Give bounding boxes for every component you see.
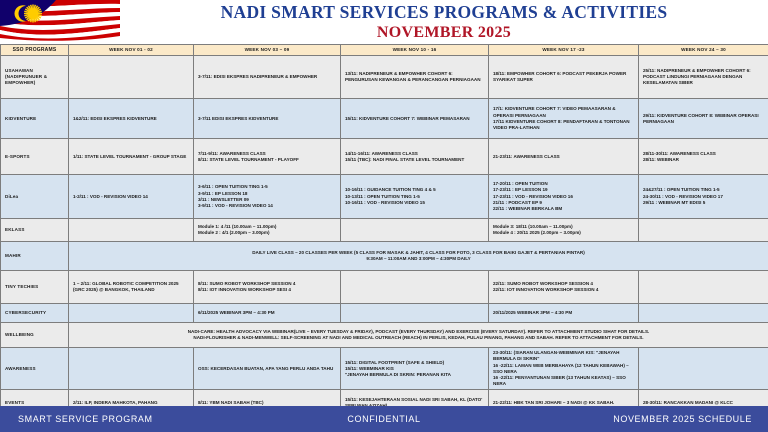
cell-r4-c2 (341, 219, 489, 242)
cell-line: NADI-FLOURISHER & NADI-MENWELL: SELF-SCR… (73, 335, 764, 341)
cell-r0-c1: 3-7/11: EDISI EKSPRES NADIPRENEUR & EMPO… (194, 56, 341, 99)
cell-r9-c0 (69, 348, 194, 390)
merged-cell: DAILY LIVE CLASS – 20 CLASSES PER WEEK (… (69, 242, 768, 271)
cell-line: 1 – 2/11: GLOBAL ROBOTIC COMPETITION 202… (73, 281, 189, 293)
cell-line: 25/11: NADIPRENEUR & EMPOWHER COHORT 6: … (643, 68, 764, 87)
footer-bar: SMART SERVICE PROGRAM CONFIDENTIAL NOVEM… (0, 406, 768, 432)
cell-line: 29/11 : WEBINAR MT EDISI 5 (643, 200, 764, 206)
table-row: E-SPORTS1/11: STATE LEVEL TOURNAMENT - G… (1, 139, 768, 175)
cell-r7-c3: 20/11/2025 WEBINAR 3PM – 4:30 PM (489, 304, 639, 323)
row-label-mahir: MAHIR (1, 242, 69, 271)
malaysia-flag-icon (0, 0, 120, 42)
table-row: CYBERSECURITY6/11/2025 WEBINAR 3PM – 4:3… (1, 304, 768, 323)
cell-line: 28/11: WEBINAR (643, 157, 764, 163)
cell-r7-c4 (639, 304, 768, 323)
row-label-kidventure: KIDVENTURE (1, 99, 69, 139)
table-row: USAHAWAN (NADIPRUNUER & EMPOWHER)3-7/11:… (1, 56, 768, 99)
cell-line: 13/11: NADIPRENEUR & EMPOWHER COHORT 6: … (345, 71, 484, 83)
cell-r1-c4: 29/11: KIDVENTURE COHORT 8: WEBINAR OPER… (639, 99, 768, 139)
slide-root: NADI SMART SERVICES PROGRAMS & ACTIVITIE… (0, 0, 768, 432)
cell-line: 20/11/2025 WEBINAR 3PM – 4:30 PM (493, 310, 634, 316)
cell-r6-c1: 8/11: SUMO ROBOT WORKSHOP SESSION 48/11:… (194, 271, 341, 304)
cell-line: 8/11: IOT INNOVATION WORKSHOP SESI 4 (198, 287, 336, 293)
cell-r7-c2 (341, 304, 489, 323)
table-row: EKLASSModule 1: 4 /11 (10.00am – 11.00pm… (1, 219, 768, 242)
cell-line: 29/11: KIDVENTURE COHORT 8: WEBINAR OPER… (643, 113, 764, 125)
cell-r1-c0: 1&2/11: EDISI EKSPRES KIDVENTURE (69, 99, 194, 139)
table-row: DiLea1-2/11 : VOD - REVISION VIDEO 143-6… (1, 175, 768, 219)
cell-line: 17/11 KIDVENTURE COHORT 8: PENDAFTARAN &… (493, 119, 634, 131)
table-row: KIDVENTURE1&2/11: EDISI EKSPRES KIDVENTU… (1, 99, 768, 139)
cell-line: 18/11: EMPOWHER COHORT 6: PODCAST PEKERJ… (493, 71, 634, 83)
cell-r2-c3: 21-23/11: AWARENESS CLASS (489, 139, 639, 175)
cell-r1-c1: 3-7/11 EDISI EKSPRES KIDVENTURE (194, 99, 341, 139)
row-label-dilea: DiLea (1, 175, 69, 219)
row-label-tiny-techies: TINY TECHIES (1, 271, 69, 304)
cell-r9-c1: OSS: KECERDASAN BUATAN, APA YANG PERLU A… (194, 348, 341, 390)
cell-r6-c2 (341, 271, 489, 304)
table-row: TINY TECHIES1 – 2/11: GLOBAL ROBOTIC COM… (1, 271, 768, 304)
cell-line: 23-30/11: (SIARAN ULANGAN-WEBMINAR KIS: … (493, 350, 634, 362)
cell-r9-c2: 15/11: DIGITAL FOOTPRINT (SAFE & SHIELD)… (341, 348, 489, 390)
cell-r3-c3: 17-20/11 : OPEN TUITION17-23/11 : EP LES… (489, 175, 639, 219)
table-header: SSO PROGRAMS WEEK NOV 01 - 02 WEEK NOV 0… (1, 45, 768, 56)
cell-r9-c3: 23-30/11: (SIARAN ULANGAN-WEBMINAR KIS: … (489, 348, 639, 390)
footer-right-text: NOVEMBER 2025 SCHEDULE (613, 406, 752, 432)
cell-line: 22/11: IOT INNOVATION WORKSHOP SESSION 4 (493, 287, 634, 293)
cell-line: 15/11 (TBC): NADI FINAL STATE LEVEL TOUR… (345, 157, 484, 163)
cell-r6-c3: 22/11: SUMO ROBOT WORKSHOP SESSION 422/1… (489, 271, 639, 304)
cell-line: 22/11 : WEBINAR BERKALA BM (493, 206, 634, 212)
row-label-e-sports: E-SPORTS (1, 139, 69, 175)
row-label-usahawan-nadiprunuer-empowher: USAHAWAN (NADIPRUNUER & EMPOWHER) (1, 56, 69, 99)
cell-r3-c0: 1-2/11 : VOD - REVISION VIDEO 14 (69, 175, 194, 219)
cell-line: Module 2 : 4/1 (2.00pm – 3.00pm) (198, 230, 336, 236)
cell-r7-c1: 6/11/2025 WEBINAR 3PM – 4:30 PM (194, 304, 341, 323)
cell-line: 17/1: KIDVENTURE COHORT 7: VIDEO PEMAASA… (493, 106, 634, 118)
row-label-wellbeing: WELLBEING (1, 323, 69, 348)
column-header-week-4: WEEK NOV 17 -23 (489, 45, 639, 56)
table-body: USAHAWAN (NADIPRUNUER & EMPOWHER)3-7/11:… (1, 56, 768, 417)
cell-line: 3-7/11: EDISI EKSPRES NADIPRENEUR & EMPO… (198, 74, 336, 80)
table-row: MAHIRDAILY LIVE CLASS – 20 CLASSES PER W… (1, 242, 768, 271)
cell-r6-c0: 1 – 2/11: GLOBAL ROBOTIC COMPETITION 202… (69, 271, 194, 304)
cell-line: 16 -22/11: PENYANTUNAN SIBER (13 TAHUN K… (493, 375, 634, 387)
cell-r4-c3: Module 3: 18/11 (10.00am – 11.00pm)Modul… (489, 219, 639, 242)
cell-r2-c4: 28/11-30/11: AWARENESS CLASS28/11: WEBIN… (639, 139, 768, 175)
cell-line: 6/11/2025 WEBINAR 3PM – 4:30 PM (198, 310, 336, 316)
cell-line: OSS: KECERDASAN BUATAN, APA YANG PERLU A… (198, 366, 336, 372)
cell-line: 1-2/11 : VOD - REVISION VIDEO 14 (73, 194, 189, 200)
table-row: AWARENESSOSS: KECERDASAN BUATAN, APA YAN… (1, 348, 768, 390)
page-title: NADI SMART SERVICES PROGRAMS & ACTIVITIE… (120, 1, 768, 23)
cell-line: 8/11: STATE LEVEL TOURNAMENT - PLAYOFF (198, 157, 336, 163)
cell-r2-c1: 7/11-9/11: AWARENESS CLASS8/11: STATE LE… (194, 139, 341, 175)
cell-line: 3-9/11 : VOD - REVISION VIDEO 14 (198, 203, 336, 209)
cell-r3-c4: 24&27/11 : OPEN TUITION TING 1-524-30/11… (639, 175, 768, 219)
cell-r1-c2: 15/11: KIDVENTURE COHORT 7: WEBINAR PEMA… (341, 99, 489, 139)
cell-line: 15/11: KIDVENTURE COHORT 7: WEBINAR PEMA… (345, 116, 484, 122)
cell-r6-c4 (639, 271, 768, 304)
header-row: SSO PROGRAMS WEEK NOV 01 - 02 WEEK NOV 0… (1, 45, 768, 56)
cell-r3-c2: 10-16/11 : GUIDANCE TUITION TING 4 & 510… (341, 175, 489, 219)
cell-r2-c0: 1/11: STATE LEVEL TOURNAMENT - GROUP STA… (69, 139, 194, 175)
page-subtitle: NOVEMBER 2025 (120, 23, 768, 42)
cell-line: 16 -22/11: LAMAN WEB MERBAHAYA (12 TAHUN… (493, 363, 634, 375)
cell-line: Module 4 : 20/11 2025 (2.00pm – 3.00pm) (493, 230, 634, 236)
cell-line: 3-7/11 EDISI EKSPRES KIDVENTURE (198, 116, 336, 122)
table-row: WELLBEINGNADI-CARE: HEALTH ADVOCACY VIA … (1, 323, 768, 348)
column-header-week-2: WEEK NOV 03 – 09 (194, 45, 341, 56)
schedule-table: SSO PROGRAMS WEEK NOV 01 - 02 WEEK NOV 0… (0, 44, 768, 417)
row-label-eklass: EKLASS (1, 219, 69, 242)
cell-line: 1&2/11: EDISI EKSPRES KIDVENTURE (73, 116, 189, 122)
cell-line: 9:30AM – 11:00AM AND 3:00PM – 4:30PM DAI… (73, 256, 764, 262)
row-label-cybersecurity: CYBERSECURITY (1, 304, 69, 323)
column-header-week-1: WEEK NOV 01 - 02 (69, 45, 194, 56)
cell-r0-c0 (69, 56, 194, 99)
cell-r4-c4 (639, 219, 768, 242)
column-header-week-5: WEEK NOV 24 – 30 (639, 45, 768, 56)
column-header-week-3: WEEK NOV 10 - 16 (341, 45, 489, 56)
cell-r0-c4: 25/11: NADIPRENEUR & EMPOWHER COHORT 6: … (639, 56, 768, 99)
cell-r1-c3: 17/1: KIDVENTURE COHORT 7: VIDEO PEMAASA… (489, 99, 639, 139)
merged-cell: NADI-CARE: HEALTH ADVOCACY VIA WEBINAR(L… (69, 323, 768, 348)
cell-line: 10-16/11 : VOD - REVISION VIDEO 15 (345, 200, 484, 206)
cell-r2-c2: 14/11-16/11: AWARENESS CLASS15/11 (TBC):… (341, 139, 489, 175)
cell-r0-c2: 13/11: NADIPRENEUR & EMPOWHER COHORT 6: … (341, 56, 489, 99)
cell-line: "JENAYAH BERMULA DI SKRIN: PERANAN KITA (345, 372, 484, 378)
cell-r9-c4 (639, 348, 768, 390)
cell-r0-c3: 18/11: EMPOWHER COHORT 6: PODCAST PEKERJ… (489, 56, 639, 99)
column-header-sso-programs: SSO PROGRAMS (1, 45, 69, 56)
cell-r4-c1: Module 1: 4 /11 (10.00am – 11.00pm)Modul… (194, 219, 341, 242)
header-block: NADI SMART SERVICES PROGRAMS & ACTIVITIE… (120, 1, 768, 43)
cell-r7-c0 (69, 304, 194, 323)
row-label-awareness: AWARENESS (1, 348, 69, 390)
cell-line: 21-23/11: AWARENESS CLASS (493, 154, 634, 160)
cell-r4-c0 (69, 219, 194, 242)
cell-line: 1/11: STATE LEVEL TOURNAMENT - GROUP STA… (73, 154, 189, 160)
cell-r3-c1: 3-6/11 : OPEN TUITION TING 1-53-9/11 : E… (194, 175, 341, 219)
